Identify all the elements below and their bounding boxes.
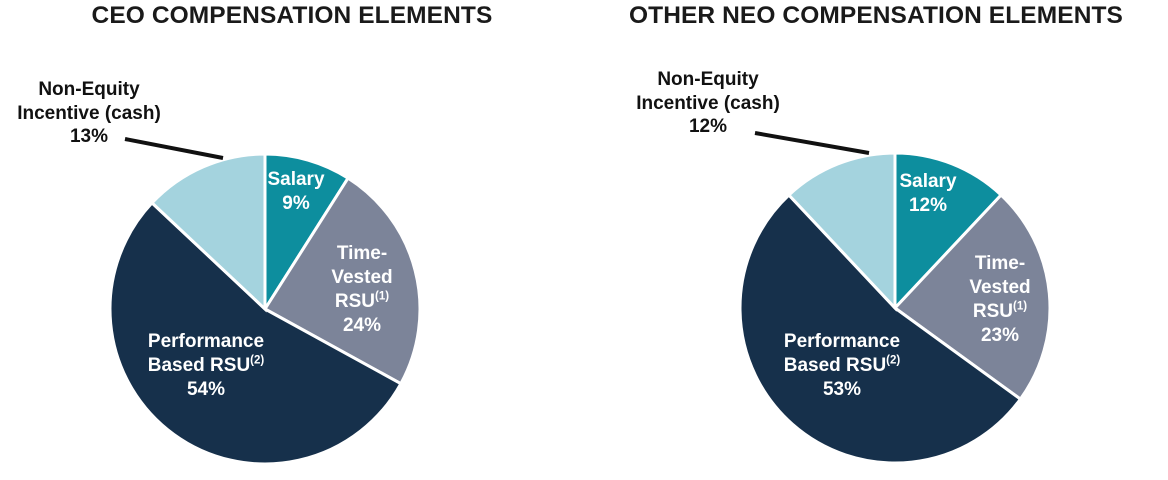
neo-performance-slice-label: Performance Based RSU(2) 53% (744, 330, 940, 402)
ceo-non-equity-callout-label: Non-Equity Incentive (cash) 13% (0, 78, 178, 149)
neo-callout-percent: 12% (624, 115, 792, 139)
ceo-time-vested-name-line-3: RSU(1) (316, 290, 408, 314)
compensation-charts-canvas: CEO COMPENSATION ELEMENTS Non-Equity Inc… (0, 0, 1168, 480)
neo-callout-line-2: Incentive (cash) (624, 92, 792, 116)
ceo-callout-line-2: Incentive (cash) (0, 102, 178, 126)
ceo-performance-percent: 54% (108, 378, 304, 402)
ceo-time-vested-percent: 24% (316, 314, 408, 338)
ceo-performance-footnote: (2) (250, 355, 264, 367)
neo-time-vested-name-line-2: Vested (954, 276, 1046, 300)
neo-time-vested-percent: 23% (954, 324, 1046, 348)
neo-time-vested-footnote: (1) (1013, 301, 1027, 313)
neo-performance-name-line-1: Performance (744, 330, 940, 354)
neo-time-vested-rsu-text: RSU (973, 301, 1013, 322)
neo-performance-name-line-2: Based RSU(2) (744, 354, 940, 378)
ceo-pie-svg (0, 0, 584, 480)
ceo-callout-percent: 13% (0, 125, 178, 149)
neo-salary-percent: 12% (880, 194, 976, 218)
ceo-time-vested-slice-label: Time- Vested RSU(1) 24% (316, 242, 408, 338)
ceo-compensation-chart-panel: CEO COMPENSATION ELEMENTS Non-Equity Inc… (0, 0, 584, 480)
ceo-time-vested-footnote: (1) (375, 291, 389, 303)
neo-performance-rsu-text: Based RSU (784, 355, 886, 376)
neo-time-vested-slice-label: Time- Vested RSU(1) 23% (954, 252, 1046, 348)
ceo-performance-name-line-2: Based RSU(2) (108, 354, 304, 378)
neo-time-vested-name-line-1: Time- (954, 252, 1046, 276)
ceo-performance-slice-label: Performance Based RSU(2) 54% (108, 330, 304, 402)
neo-salary-slice-label: Salary 12% (880, 170, 976, 218)
neo-salary-name: Salary (880, 170, 976, 194)
ceo-salary-slice-label: Salary 9% (251, 168, 341, 216)
neo-non-equity-callout-label: Non-Equity Incentive (cash) 12% (624, 68, 792, 139)
ceo-time-vested-name-line-1: Time- (316, 242, 408, 266)
neo-performance-footnote: (2) (886, 355, 900, 367)
neo-time-vested-name-line-3: RSU(1) (954, 300, 1046, 324)
ceo-salary-percent: 9% (251, 192, 341, 216)
ceo-salary-name: Salary (251, 168, 341, 192)
neo-compensation-chart-panel: OTHER NEO COMPENSATION ELEMENTS Non-Equi… (584, 0, 1168, 480)
neo-performance-percent: 53% (744, 378, 940, 402)
ceo-time-vested-name-line-2: Vested (316, 266, 408, 290)
ceo-time-vested-rsu-text: RSU (335, 291, 375, 312)
ceo-performance-rsu-text: Based RSU (148, 355, 250, 376)
ceo-performance-name-line-1: Performance (108, 330, 304, 354)
neo-callout-line-1: Non-Equity (624, 68, 792, 92)
ceo-callout-line-1: Non-Equity (0, 78, 178, 102)
